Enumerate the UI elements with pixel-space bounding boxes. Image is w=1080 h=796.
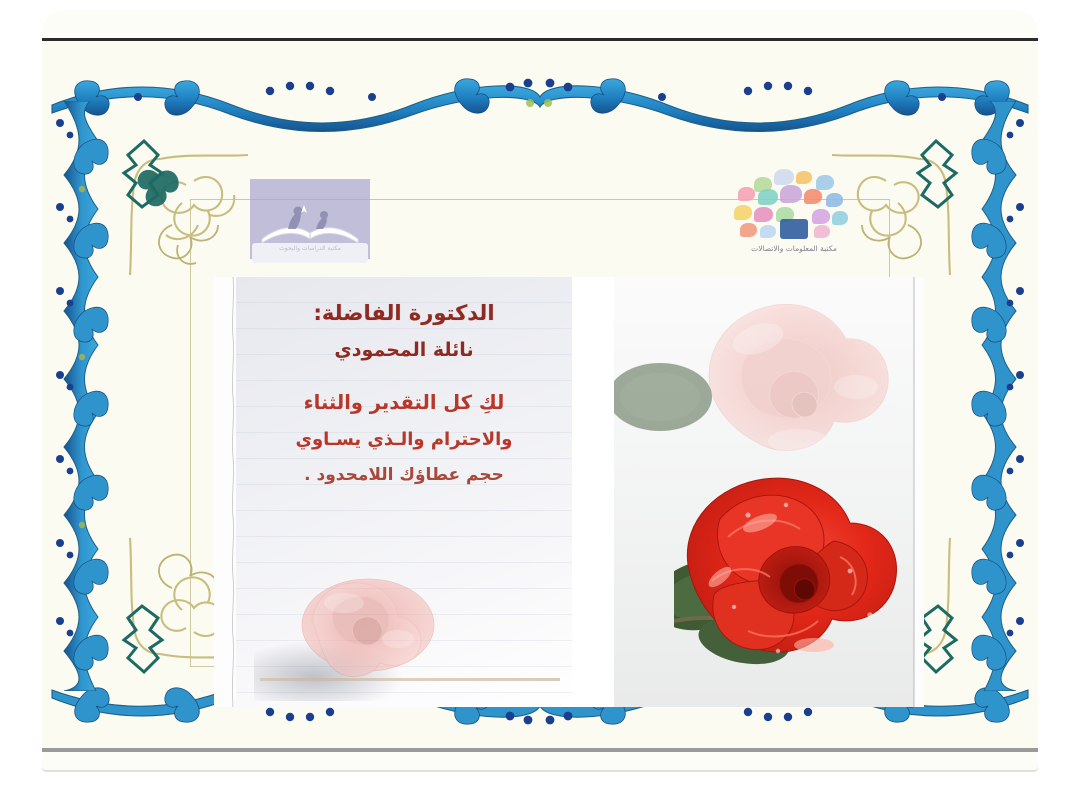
rose-photo-panel <box>614 277 924 707</box>
cloud-bubble <box>760 225 776 238</box>
appreciation-message: الدكتورة الفاضلة: نائلة المحمودي لكِ كل … <box>246 301 562 500</box>
icon-cloud-graphic <box>730 169 858 243</box>
cloud-bubble <box>758 189 778 205</box>
cloud-bubble <box>826 193 843 207</box>
red-rose-main <box>674 445 924 675</box>
message-line-3: حجم عطاؤك اللامحدود . <box>246 465 562 485</box>
certificate-page: مكتبة الدراسات والبحوث <box>0 0 1080 796</box>
cloud-center-badge <box>780 219 808 239</box>
photo-right-white-strip <box>914 277 924 707</box>
content-area: مكتبة الدراسات والبحوث <box>162 141 918 701</box>
cloud-bubble <box>754 207 773 222</box>
pink-rose-faded-small <box>272 559 462 689</box>
notebook-page: الدكتورة الفاضلة: نائلة المحمودي لكِ كل … <box>236 277 572 707</box>
logo-caption: مكتبة المعلومات والاتصالات <box>730 244 858 253</box>
cloud-bubble <box>740 223 757 237</box>
photo-strip: الدكتورة الفاضلة: نائلة المحمودي لكِ كل … <box>214 277 924 707</box>
leaf-background-blurred <box>614 355 718 447</box>
cloud-bubble <box>812 209 830 224</box>
information-technology-cloud-logo: مكتبة المعلومات والاتصالات <box>730 169 858 267</box>
message-salutation: الدكتورة الفاضلة: <box>246 301 562 325</box>
sheet-bottom-rule <box>42 748 1038 752</box>
message-line-2: والاحترام والـذي يسـاوي <box>246 429 562 450</box>
cloud-bubble <box>774 169 794 185</box>
cloud-bubble <box>780 185 802 203</box>
message-line-1: لكِ كل التقدير والثناء <box>246 391 562 414</box>
note-photo-panel: الدكتورة الفاضلة: نائلة المحمودي لكِ كل … <box>214 277 572 707</box>
paper-sheet: مكتبة الدراسات والبحوث <box>42 10 1038 770</box>
torn-paper-edge <box>230 277 236 707</box>
cloud-bubble <box>738 187 755 201</box>
emblem-banner-text: مكتبة الدراسات والبحوث <box>252 243 368 263</box>
open-book-icon <box>258 203 362 245</box>
sheet-inner-area: مكتبة الدراسات والبحوث <box>42 41 1038 748</box>
cloud-bubble <box>804 189 822 204</box>
recipient-name: نائلة المحمودي <box>246 339 562 361</box>
cloud-bubble <box>734 205 752 220</box>
cloud-bubble <box>814 225 830 238</box>
logo-row: مكتبة الدراسات والبحوث <box>162 151 918 261</box>
library-book-emblem-logo: مكتبة الدراسات والبحوث <box>250 179 370 259</box>
photo-right-edge-line <box>913 277 915 707</box>
ornament-top-band <box>42 67 1038 137</box>
cloud-bubble <box>832 211 848 225</box>
cloud-bubble <box>796 171 812 184</box>
photo-gap <box>572 277 614 707</box>
cloud-bubble <box>816 175 834 190</box>
